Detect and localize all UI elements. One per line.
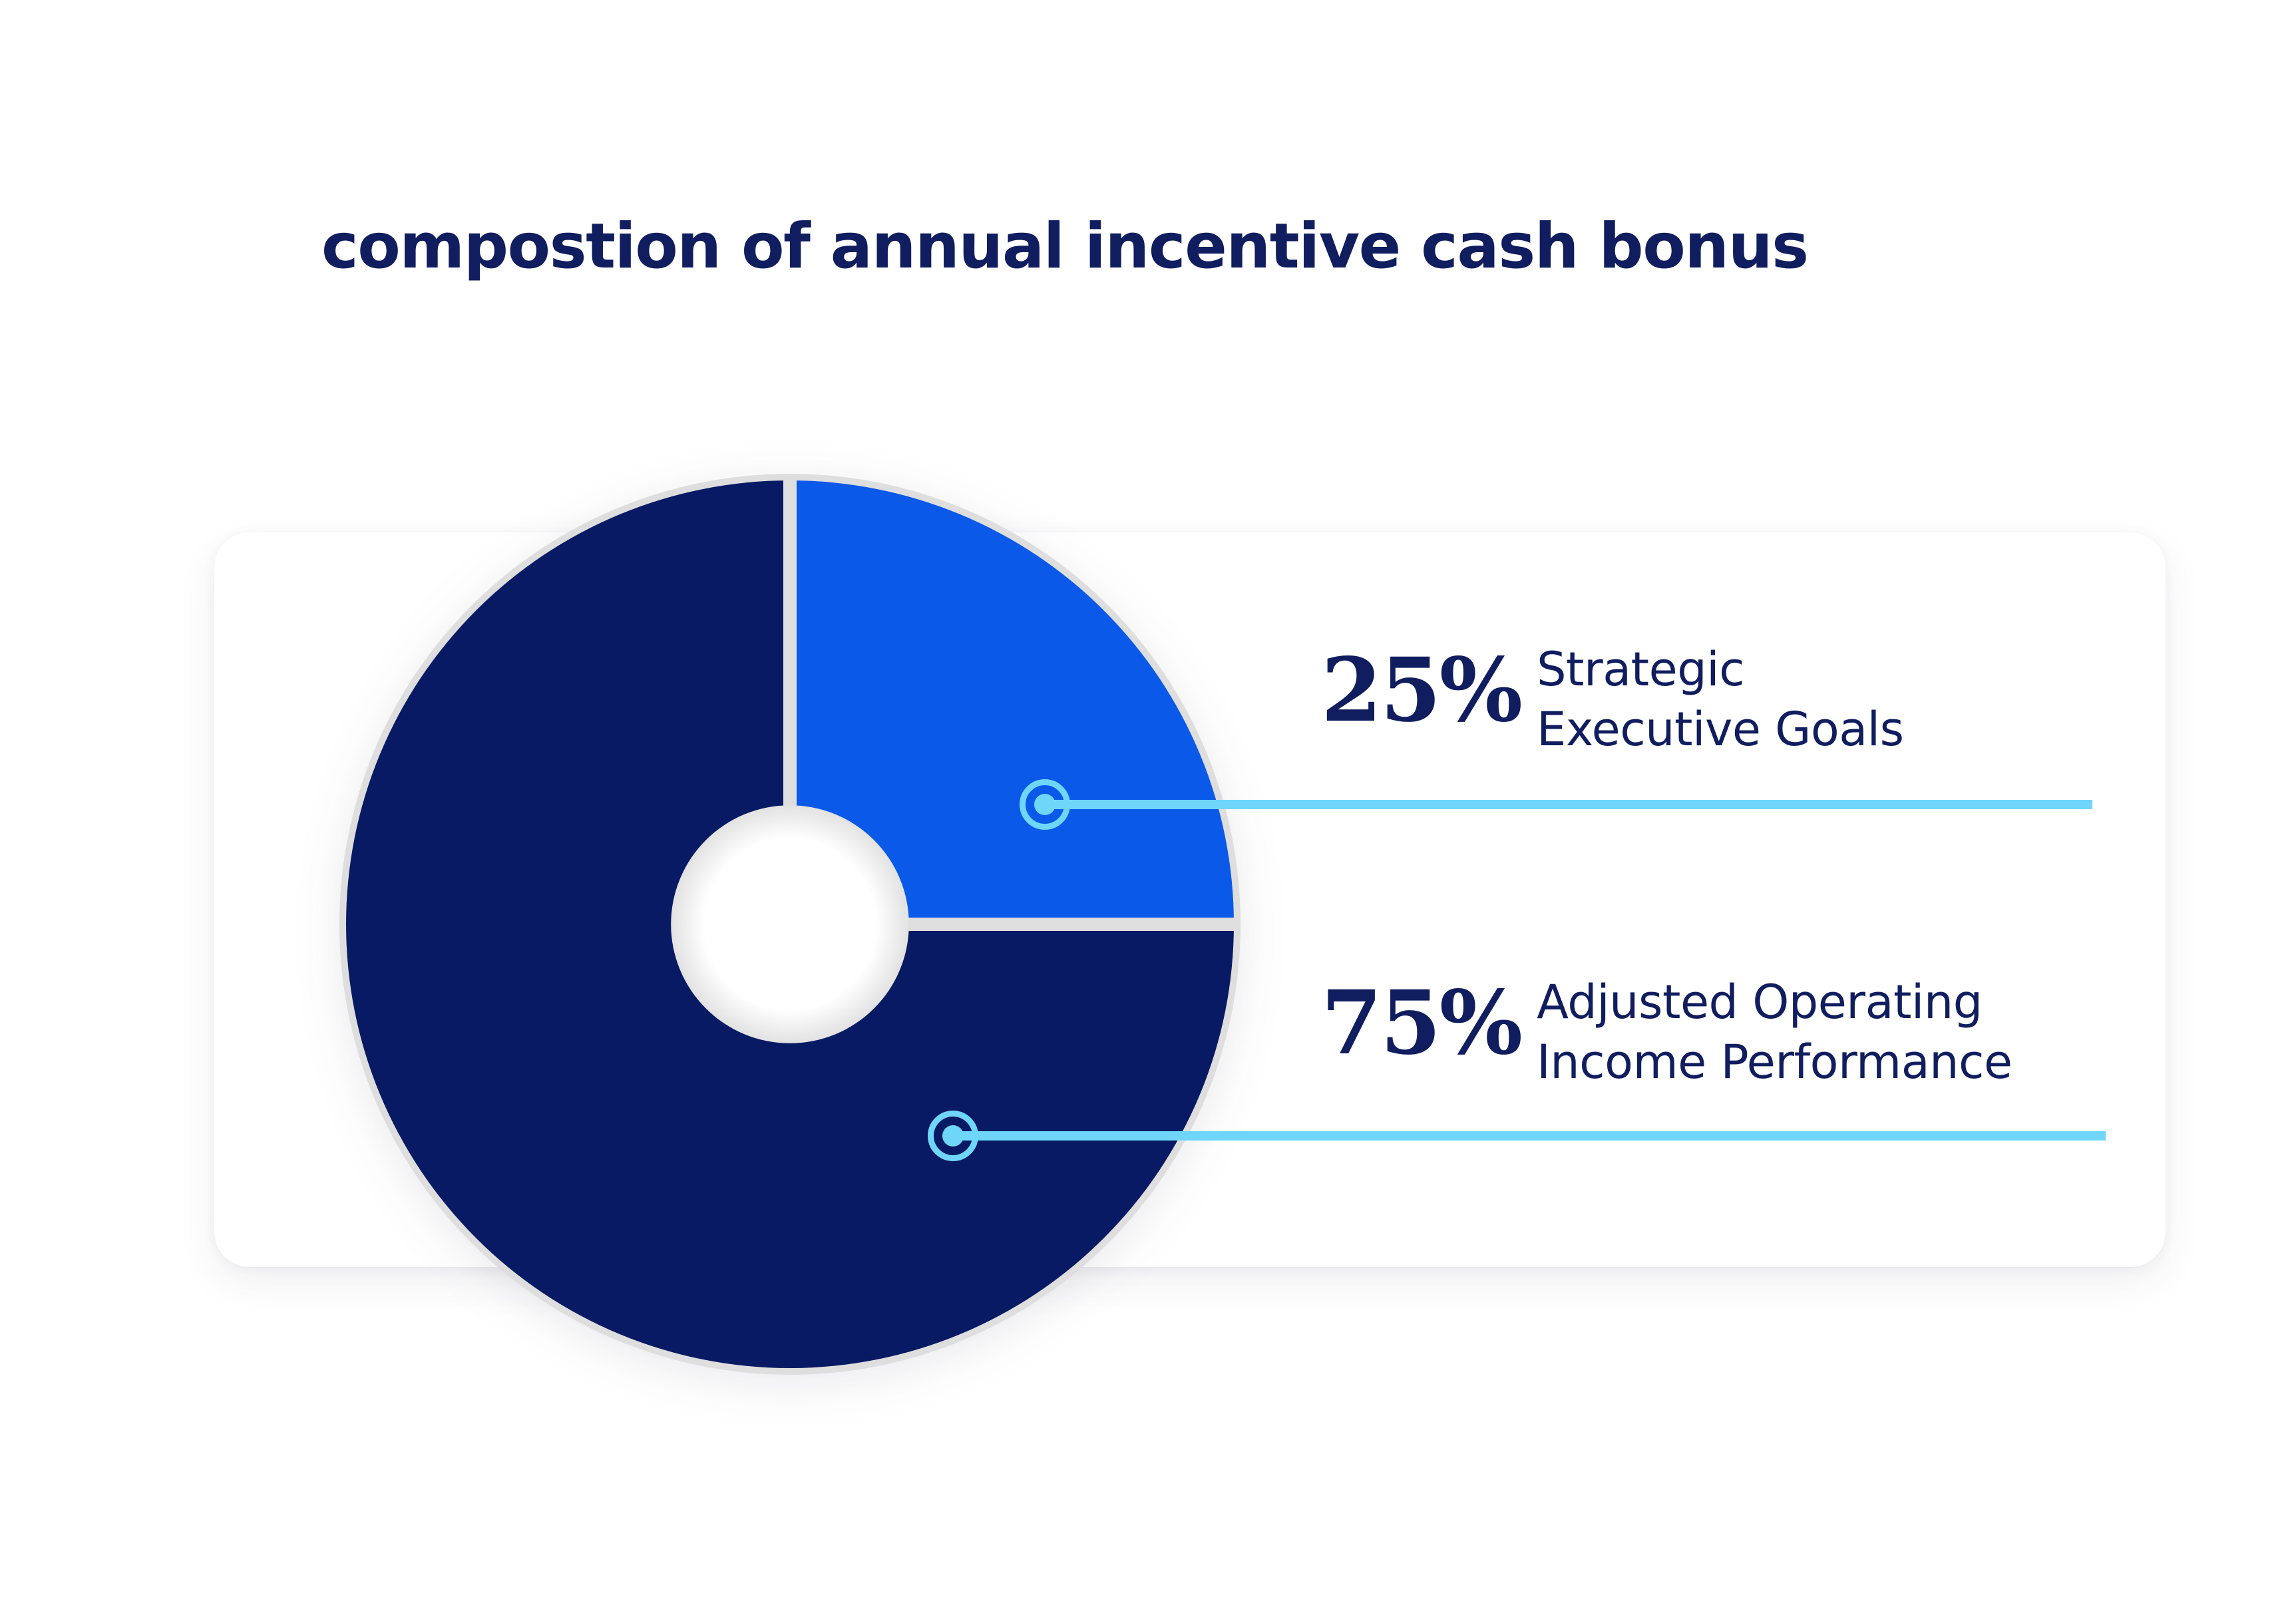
infographic-page: { "title": "compostion of annual incenti… [0, 0, 2296, 1597]
legend-percent-value: 25% [1321, 640, 1521, 735]
page-title: compostion of annual incentive cash bonu… [321, 214, 1808, 280]
leader-marker-strategic-executive-goals[interactable] [1020, 779, 1070, 830]
leader-marker-adjusted-operating-income-performance[interactable] [928, 1111, 978, 1161]
marker-dot-icon [942, 1125, 964, 1147]
legend-label-line-2: Executive Goals [1537, 700, 1903, 760]
legend-label-line-2: Income Performance [1537, 1033, 2012, 1093]
legend-label-line-1: Adjusted Operating [1537, 973, 2012, 1033]
marker-dot-icon [1034, 794, 1055, 815]
legend-label: Adjusted Operating Income Performance [1537, 973, 2012, 1092]
leader-line-strategic-executive-goals [1042, 800, 2092, 809]
legend-item-strategic-executive-goals[interactable]: 25% Strategic Executive Goals [1321, 640, 1904, 759]
legend-label: Strategic Executive Goals [1537, 640, 1903, 759]
donut-chart [339, 474, 1241, 1375]
donut-chart-svg [339, 474, 1241, 1375]
donut-center-hole [671, 805, 909, 1043]
legend-item-adjusted-operating-income-performance[interactable]: 75% Adjusted Operating Income Performanc… [1321, 973, 2012, 1092]
legend-percent-value: 75% [1321, 973, 1521, 1067]
leader-line-adjusted-operating-income-performance [950, 1131, 2106, 1141]
legend-label-line-1: Strategic [1537, 640, 1903, 700]
